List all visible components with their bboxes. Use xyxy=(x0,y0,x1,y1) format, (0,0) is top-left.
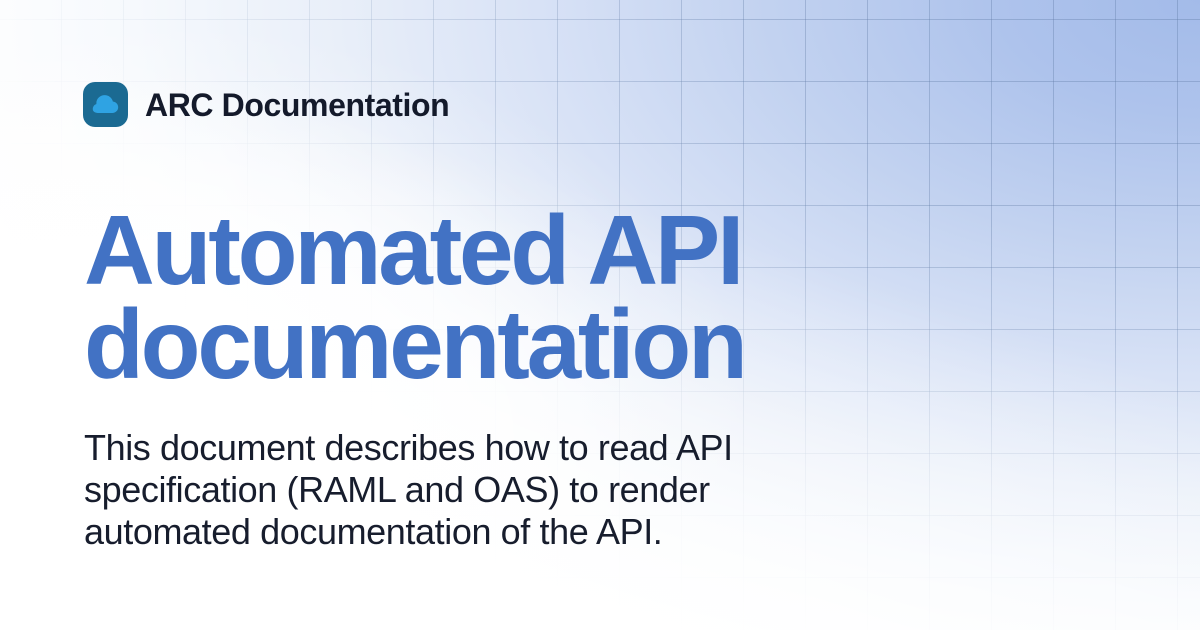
brand-name: ARC Documentation xyxy=(145,89,449,121)
page-description: This document describes how to read API … xyxy=(84,427,829,553)
content-layer: ARC Documentation Automated API document… xyxy=(0,0,1200,630)
brand-header: ARC Documentation xyxy=(83,82,449,127)
page-title: Automated API documentation xyxy=(84,203,844,391)
cloud-icon xyxy=(83,82,128,127)
og-card: ARC Documentation Automated API document… xyxy=(0,0,1200,630)
